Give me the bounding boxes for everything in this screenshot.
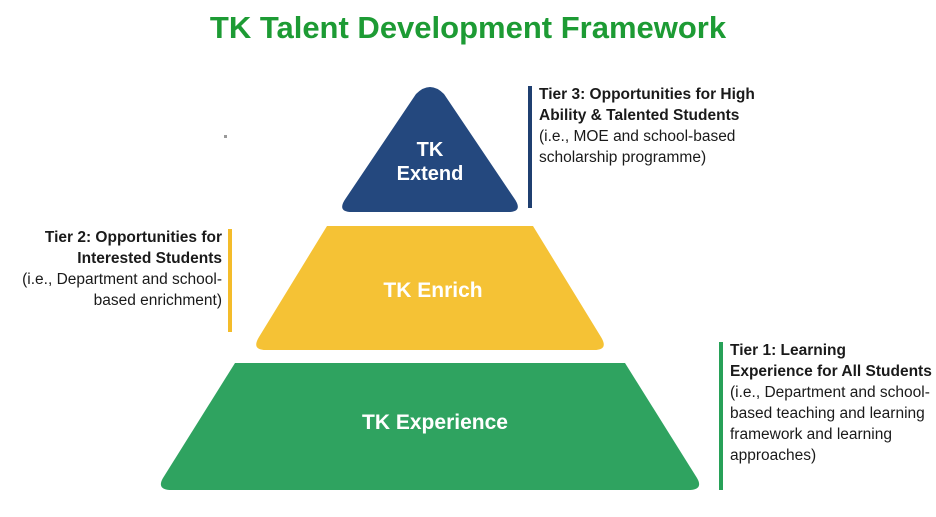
tier2-label: TK Enrich	[333, 278, 533, 304]
tier3-label: TK Extend	[350, 138, 510, 187]
tier3-annotation-heading: Tier 3: Opportunities for High Ability &…	[539, 85, 775, 127]
tier3-annotation: Tier 3: Opportunities for High Ability &…	[539, 85, 775, 169]
tier3-label-line2: Extend	[397, 163, 464, 185]
tier2-rule	[228, 229, 232, 332]
tier1-annotation-detail: (i.e., Department and school-based teach…	[730, 383, 932, 467]
page-title: TK Talent Development Framework	[0, 10, 936, 46]
tier2-annotation: Tier 2: Opportunities for Interested Stu…	[8, 228, 222, 312]
tier1-rule	[719, 342, 723, 490]
tier2-annotation-heading: Tier 2: Opportunities for Interested Stu…	[8, 228, 222, 270]
tier1-shape	[161, 363, 699, 490]
tier1-annotation-heading: Tier 1: Learning Experience for All Stud…	[730, 341, 932, 383]
tier3-rule	[528, 86, 532, 208]
tier1-label: TK Experience	[320, 410, 550, 436]
stray-dot	[224, 135, 227, 138]
tier2-annotation-detail: (i.e., Department and school-based enric…	[8, 270, 222, 312]
tier3-annotation-detail: (i.e., MOE and school-based scholarship …	[539, 127, 775, 169]
tier3-shape	[342, 87, 518, 212]
tier1-annotation: Tier 1: Learning Experience for All Stud…	[730, 341, 932, 467]
tier2-shape	[256, 226, 604, 350]
tier3-label-line1: TK	[417, 139, 444, 161]
